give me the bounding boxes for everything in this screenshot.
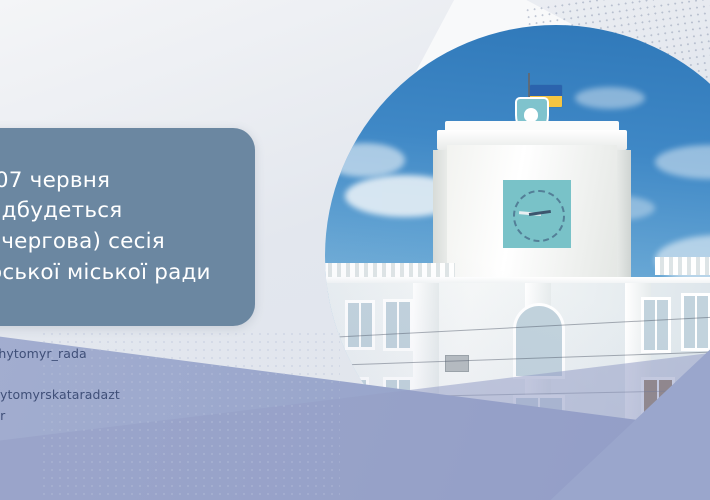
announcement-text: 07 червня відбудеться (позачергова) сесі…	[0, 128, 255, 326]
announcement-line-1: 07 червня	[0, 166, 110, 197]
announcement-line-4: Житомирської міської ради	[0, 258, 211, 289]
contact-list: instagram.com/zhytomyr_rada t.me/zhtmr f…	[0, 344, 120, 447]
contact-website[interactable]: zt-rada.gov.ua	[0, 426, 120, 447]
contact-twitter[interactable]: twitter.com/zhtmr	[0, 406, 120, 427]
contact-telegram[interactable]: t.me/zhtmr	[0, 365, 120, 386]
contact-instagram[interactable]: instagram.com/zhytomyr_rada	[0, 344, 120, 365]
announcement-line-3: (позачергова) сесія	[0, 227, 165, 258]
announcement-line-2: відбудеться	[0, 196, 122, 227]
announcement-card: 07 червня відбудеться (позачергова) сесі…	[0, 128, 255, 326]
contact-facebook[interactable]: facebook.com/zhytomyrskataradazt	[0, 385, 120, 406]
announcement-graphic: 07 червня відбудеться (позачергова) сесі…	[0, 0, 710, 500]
